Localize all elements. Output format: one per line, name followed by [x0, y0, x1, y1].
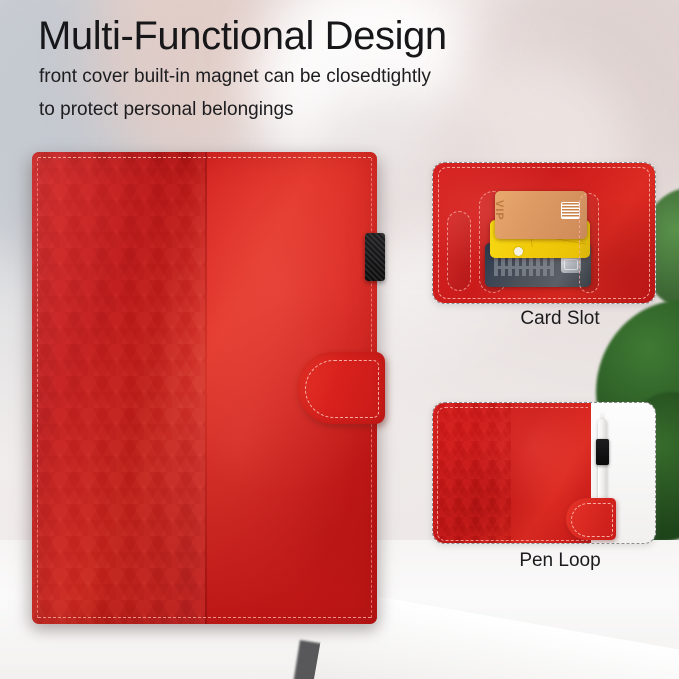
pen-loop-elastic [365, 233, 385, 281]
card-pocket [579, 193, 599, 293]
card-pocket [447, 211, 471, 291]
inset-label-pen-loop: Pen Loop [430, 550, 679, 572]
product-marketing-image: Multi-Functional Design front cover buil… [0, 0, 679, 679]
stitch-line [38, 157, 371, 158]
stitch-line [571, 503, 613, 537]
page-title: Multi-Functional Design [38, 12, 447, 60]
vip-card-label: VIP [493, 200, 505, 221]
magnetic-flap-closure [297, 352, 385, 424]
stitch-line [305, 360, 379, 418]
panel-seam [205, 152, 207, 624]
card-chip-icon [561, 256, 581, 273]
cube-pattern-sheen [32, 152, 205, 624]
inset-card-slot: VIP [432, 162, 656, 304]
stitch-line [37, 158, 38, 618]
subtitle-line-2: to protect personal belongings [39, 99, 294, 121]
stitch-line [38, 617, 371, 618]
card-number-emboss [494, 256, 554, 276]
inset-label-card-slot: Card Slot [430, 308, 679, 330]
list-item: VIP [495, 191, 587, 239]
magnetic-flap-closure [566, 498, 616, 540]
subtitle-line-1: front cover built-in magnet can be close… [39, 66, 431, 88]
pen-loop-elastic [596, 439, 609, 465]
qr-code-icon [561, 202, 580, 219]
inset-pen-loop [432, 402, 656, 544]
card-dot-icon [514, 247, 523, 256]
